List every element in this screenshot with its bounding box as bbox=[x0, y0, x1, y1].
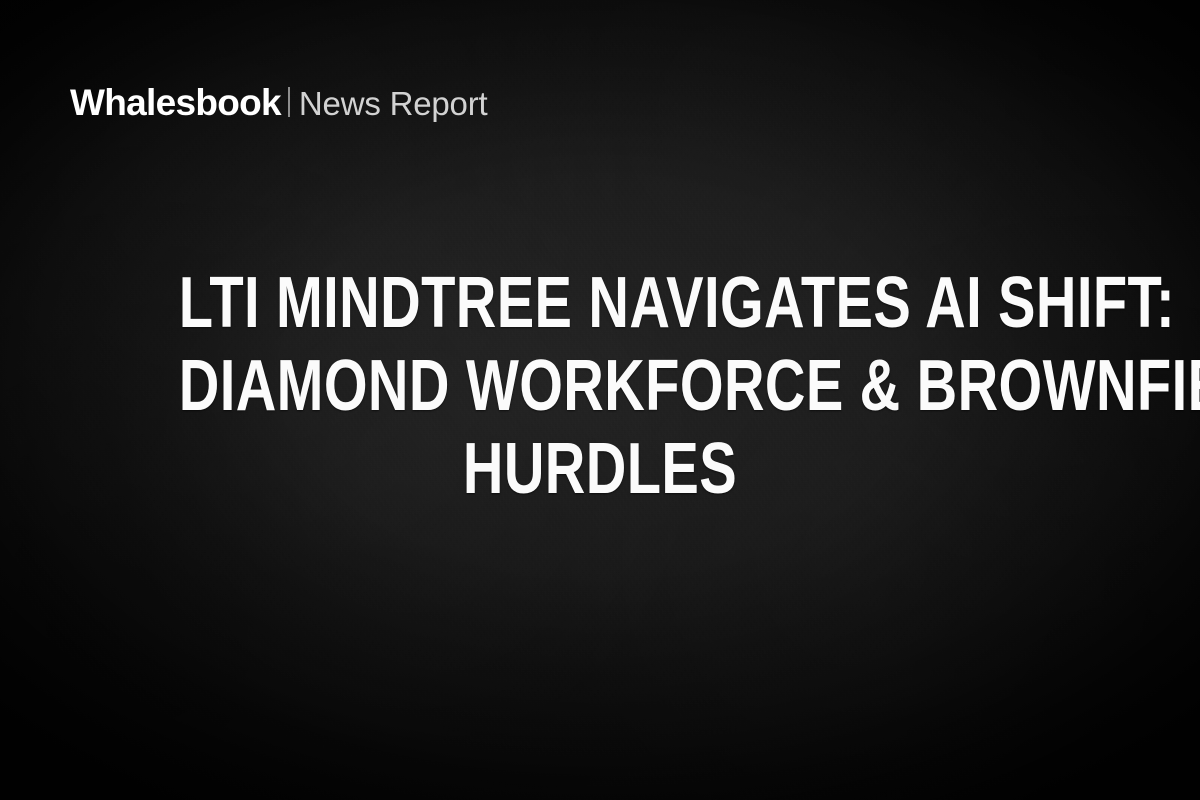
brand-divider bbox=[288, 87, 290, 117]
brand-subtitle: News Report bbox=[299, 87, 488, 120]
headline: LTI MINDTREE NAVIGATES AI SHIFT: DIAMOND… bbox=[0, 262, 1200, 511]
card-content: Whalesbook News Report LTI MINDTREE NAVI… bbox=[0, 0, 1200, 800]
brand-lockup: Whalesbook News Report bbox=[70, 84, 487, 121]
brand-name: Whalesbook bbox=[70, 84, 281, 121]
headline-line-2: DIAMOND WORKFORCE & BROWNFIELD bbox=[179, 345, 1021, 428]
headline-line-3: HURDLES bbox=[179, 428, 1021, 511]
headline-line-1: LTI MINDTREE NAVIGATES AI SHIFT: bbox=[179, 262, 1021, 345]
news-report-card: Whalesbook News Report LTI MINDTREE NAVI… bbox=[0, 0, 1200, 800]
